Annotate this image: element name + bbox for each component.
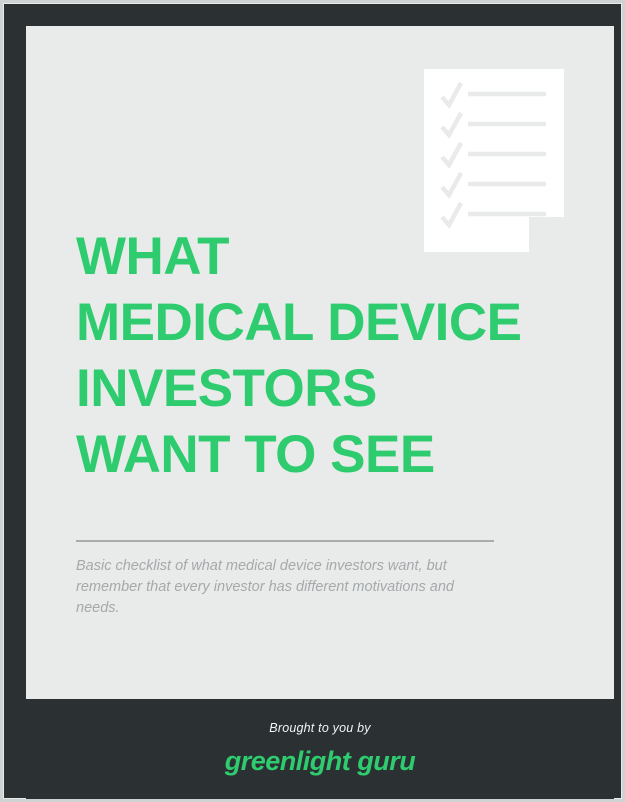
cover-page: WHAT MEDICAL DEVICE INVESTORS WANT TO SE… (0, 0, 625, 802)
page-title: WHAT MEDICAL DEVICE INVESTORS WANT TO SE… (76, 224, 576, 488)
title-line-1: WHAT (76, 224, 576, 290)
title-line-2: MEDICAL DEVICE (76, 290, 576, 356)
subtitle-text: Basic checklist of what medical device i… (76, 556, 501, 619)
page-frame: WHAT MEDICAL DEVICE INVESTORS WANT TO SE… (3, 3, 622, 799)
footer-bar: Brought to you by greenlight guru (26, 699, 614, 799)
greenlight-guru-logo: greenlight guru (26, 746, 614, 777)
title-line-3: INVESTORS (76, 356, 576, 422)
title-line-4: WANT TO SEE (76, 422, 576, 488)
cover-content-area: WHAT MEDICAL DEVICE INVESTORS WANT TO SE… (26, 26, 614, 699)
title-divider (76, 540, 494, 542)
brought-to-you-by-label: Brought to you by (26, 721, 614, 735)
